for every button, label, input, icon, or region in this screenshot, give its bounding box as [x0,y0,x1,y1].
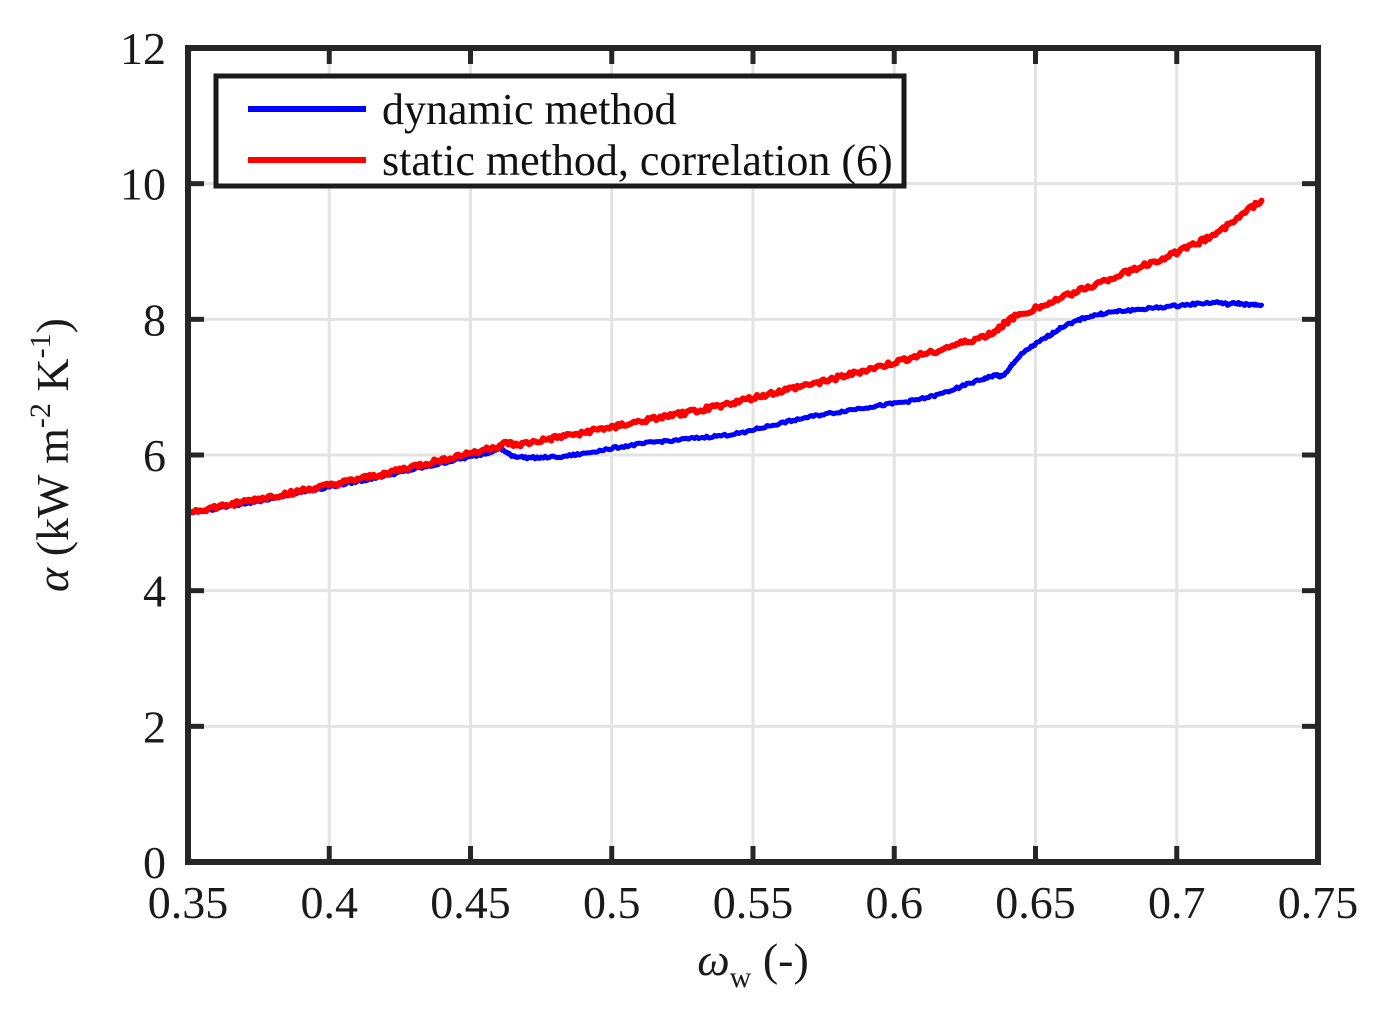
legend-label-dynamic-method: dynamic method [382,85,677,134]
svg-text:α (kW m-2 K-1): α (kW m-2 K-1) [24,318,78,592]
y-tick-label: 12 [120,23,166,74]
y-tick-label: 4 [143,566,166,617]
figure-container: 0.350.40.450.50.550.60.650.70.75 0246810… [0,0,1387,1015]
x-tick-label: 0.4 [301,877,359,928]
svg-text:ωw (-): ωw (-) [697,934,809,994]
y-tick-label: 8 [143,294,166,345]
x-tick-label: 0.65 [995,877,1076,928]
x-tick-label: 0.6 [866,877,924,928]
y-axis-open: (kW m [27,428,78,568]
x-tick-label: 0.5 [583,877,641,928]
x-axis-title: ωw (-) [697,934,809,994]
x-axis-unit [751,934,763,985]
x-tick-label: 0.7 [1148,877,1206,928]
x-axis-symbol: ω [697,934,729,985]
y-axis-exponent-1: -2 [24,403,57,428]
x-axis-tick-labels: 0.350.40.450.50.550.60.650.70.75 [148,877,1359,928]
x-tick-label: 0.75 [1278,877,1359,928]
x-tick-label: 0.45 [430,877,511,928]
y-tick-label: 10 [120,159,166,210]
legend: dynamic method static method, correlatio… [216,76,904,186]
chart-canvas: 0.350.40.450.50.550.60.650.70.75 0246810… [0,0,1387,1015]
x-axis-unit-text: (-) [763,934,809,985]
y-tick-label: 0 [143,837,166,888]
y-axis-tick-labels: 024681012 [120,23,166,888]
y-axis-mid: K [27,358,78,403]
y-axis-symbol: α [27,567,78,592]
legend-label-static-method: static method, correlation (6) [382,136,893,185]
x-tick-label: 0.55 [713,877,794,928]
y-axis-title: α (kW m-2 K-1) [24,318,78,592]
x-axis-subscript: w [730,961,752,994]
y-tick-label: 6 [143,430,166,481]
y-axis-exponent-2: -1 [24,333,57,358]
y-tick-label: 2 [143,701,166,752]
y-axis-close: ) [27,318,78,333]
